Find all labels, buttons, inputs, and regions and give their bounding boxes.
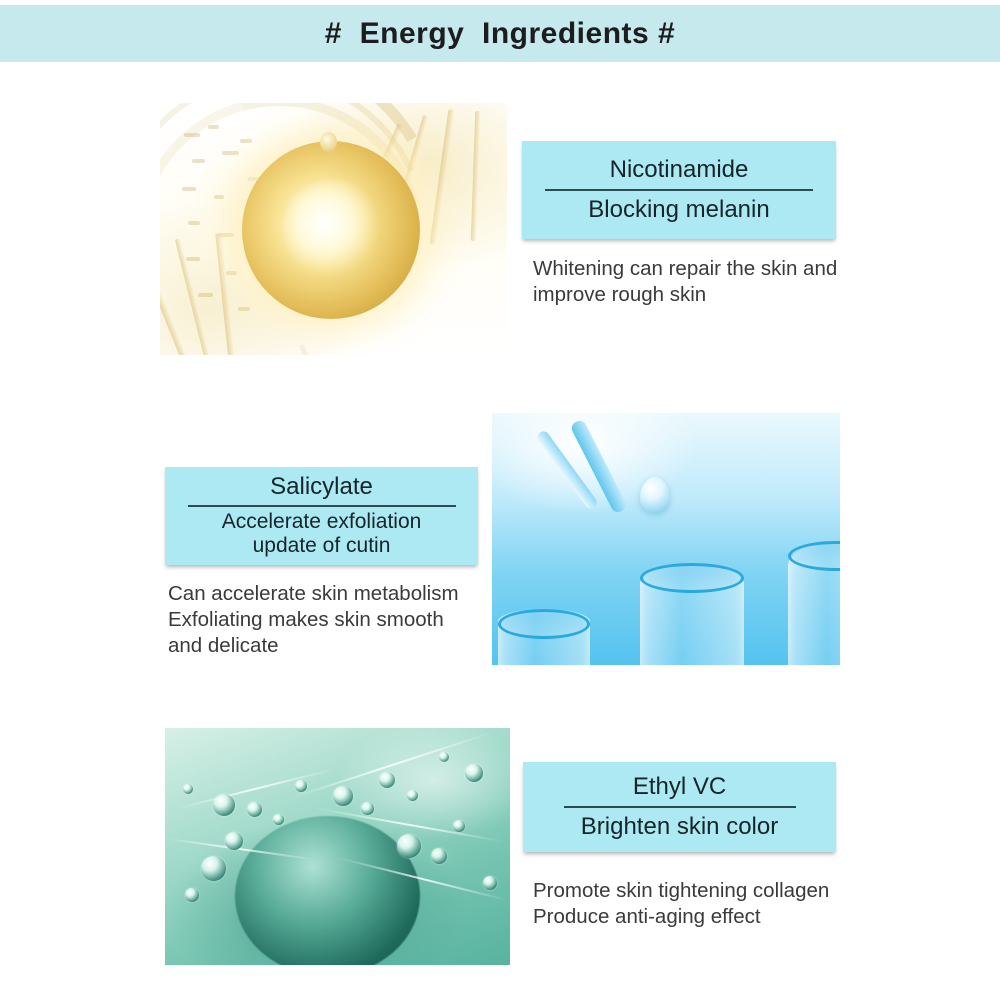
water-bubble [225, 832, 243, 850]
water-bubble [333, 786, 353, 806]
test-tube [498, 609, 590, 665]
pipette-barrel [569, 418, 628, 514]
water-bubble [397, 834, 421, 858]
ingredient-description-nicotinamide: Whitening can repair the skin and improv… [533, 256, 863, 308]
ingredient-description-ethyl-vc: Promote skin tightening collagen Produce… [533, 878, 873, 930]
water-bubble [439, 752, 449, 762]
card-divider [188, 505, 456, 507]
water-bubble [361, 802, 374, 815]
test-tube [640, 563, 744, 665]
water-streak [290, 731, 495, 799]
water-bubble [213, 794, 235, 816]
liquid-droplet [640, 477, 670, 513]
ingredient-card-salicylate: Salicylate Accelerate exfoliation update… [165, 467, 478, 565]
pipette [588, 415, 710, 511]
page-title: # Energy Ingredients # [325, 17, 675, 51]
header-band: # Energy Ingredients # [0, 5, 1000, 62]
test-tube-rim [640, 563, 744, 593]
water-bubble [453, 820, 465, 832]
ingredient-description-salicylate: Can accelerate skin metabolism Exfoliati… [168, 581, 498, 660]
test-tube-rim [498, 609, 590, 639]
water-bubble [407, 790, 418, 801]
water-bubble [201, 856, 226, 881]
water-bubble [379, 772, 395, 788]
water-bubble [295, 780, 307, 792]
water-bubble [183, 784, 193, 794]
water-bubble [273, 814, 284, 825]
ingredient-name: Salicylate [270, 474, 373, 501]
water-bubble [431, 848, 447, 864]
ingredient-card-ethyl-vc: Ethyl VC Brighten skin color [523, 762, 836, 852]
golden-sphere-dna-photo [160, 103, 507, 355]
water-bubble [483, 876, 497, 890]
ingredient-benefit: Brighten skin color [581, 813, 778, 840]
ingredient-name: Ethyl VC [633, 774, 726, 801]
ingredient-name: Nicotinamide [610, 157, 749, 184]
water-bubble [247, 802, 262, 817]
ingredient-benefit: Accelerate exfoliation update of cutin [222, 510, 422, 558]
water-sphere [235, 816, 420, 965]
ingredient-card-nicotinamide: Nicotinamide Blocking melanin [522, 141, 836, 239]
water-bubble [465, 764, 483, 782]
gold-droplet-sphere [242, 141, 420, 319]
card-divider [564, 806, 796, 808]
green-water-splash-photo [165, 728, 510, 965]
water-bubble [185, 888, 199, 902]
test-tube-rim [788, 541, 840, 571]
blue-pipette-test-tubes-photo [492, 413, 840, 665]
test-tube [788, 541, 840, 665]
ingredient-benefit: Blocking melanin [588, 196, 769, 223]
card-divider [545, 189, 813, 191]
